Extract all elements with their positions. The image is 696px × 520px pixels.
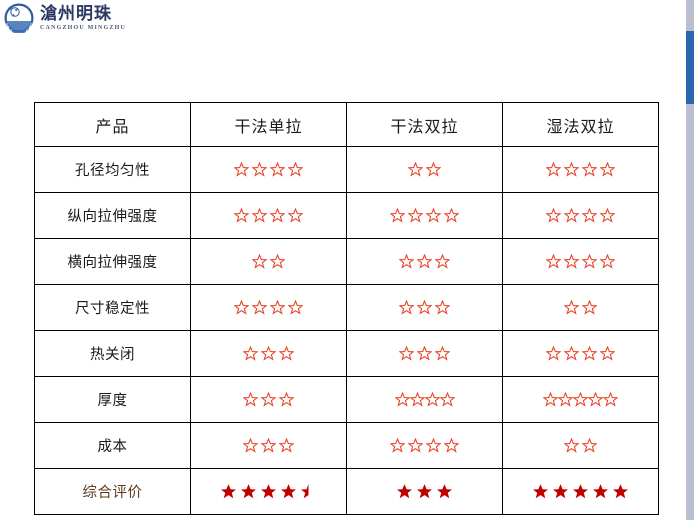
vertical-scrollbar[interactable]	[684, 0, 696, 520]
star-outline-icon	[261, 438, 276, 453]
star-outline-icon	[564, 438, 579, 453]
star-filled-icon	[436, 483, 453, 500]
rating-cell-r7-c1	[347, 469, 503, 515]
star-rating	[234, 208, 303, 223]
slide-canvas: 滄州明珠 CANGZHOU MINGZHU 不同工艺优缺点对比 产品 干法单拉 …	[0, 0, 684, 520]
star-outline-icon	[426, 162, 441, 177]
star-outline-icon	[546, 254, 561, 269]
star-rating	[390, 208, 459, 223]
rating-cell-r2-c1	[347, 239, 503, 285]
star-outline-icon	[600, 208, 615, 223]
star-outline-icon	[582, 300, 597, 315]
star-outline-icon	[288, 162, 303, 177]
row-label-5: 厚度	[35, 377, 191, 423]
table-row: 成本	[35, 423, 659, 469]
star-filled-icon	[396, 483, 413, 500]
table-row: 综合评价	[35, 469, 659, 515]
star-outline-icon	[546, 208, 561, 223]
star-outline-icon	[410, 392, 425, 407]
star-outline-icon	[270, 300, 285, 315]
star-outline-icon	[399, 300, 414, 315]
star-outline-icon	[588, 392, 603, 407]
column-header-dry-biaxial: 干法双拉	[347, 103, 503, 147]
star-outline-icon	[546, 162, 561, 177]
star-half-icon	[300, 483, 317, 500]
star-outline-icon	[425, 392, 440, 407]
star-rating	[546, 346, 615, 361]
star-outline-icon	[279, 438, 294, 453]
star-outline-icon	[399, 346, 414, 361]
star-outline-icon	[546, 346, 561, 361]
star-rating	[243, 346, 294, 361]
star-outline-icon	[435, 346, 450, 361]
star-outline-icon	[444, 438, 459, 453]
star-outline-icon	[252, 300, 267, 315]
star-outline-icon	[288, 208, 303, 223]
star-outline-icon	[234, 162, 249, 177]
star-rating	[408, 162, 441, 177]
logo-name-cn: 滄州明珠	[40, 6, 126, 23]
star-outline-icon	[426, 208, 441, 223]
row-label-0: 孔径均匀性	[35, 147, 191, 193]
star-outline-icon	[558, 392, 573, 407]
star-outline-icon	[435, 254, 450, 269]
star-outline-icon	[390, 438, 405, 453]
star-outline-icon	[543, 392, 558, 407]
column-header-product: 产品	[35, 103, 191, 147]
star-outline-icon	[582, 162, 597, 177]
star-outline-icon	[582, 346, 597, 361]
star-outline-icon	[270, 208, 285, 223]
star-rating	[546, 254, 615, 269]
rating-cell-r5-c1	[347, 377, 503, 423]
rating-cell-r0-c1	[347, 147, 503, 193]
star-rating	[220, 483, 317, 500]
star-outline-icon	[417, 254, 432, 269]
logo-name-en: CANGZHOU MINGZHU	[40, 25, 126, 31]
star-rating	[543, 392, 618, 407]
star-outline-icon	[600, 254, 615, 269]
star-outline-icon	[261, 392, 276, 407]
table-row: 热关闭	[35, 331, 659, 377]
star-rating	[399, 300, 450, 315]
rating-cell-r6-c0	[191, 423, 347, 469]
star-outline-icon	[270, 254, 285, 269]
comparison-table: 产品 干法单拉 干法双拉 湿法双拉 孔径均匀性纵向拉伸强度横向拉伸强度尺寸稳定性…	[34, 102, 659, 515]
row-label-2: 横向拉伸强度	[35, 239, 191, 285]
star-outline-icon	[243, 438, 258, 453]
star-outline-icon	[234, 300, 249, 315]
star-outline-icon	[279, 346, 294, 361]
star-outline-icon	[399, 254, 414, 269]
star-outline-icon	[582, 438, 597, 453]
star-rating	[252, 254, 285, 269]
circular-pearl-emblem-icon	[4, 3, 34, 33]
rating-cell-r2-c2	[503, 239, 659, 285]
rating-cell-r4-c0	[191, 331, 347, 377]
star-outline-icon	[603, 392, 618, 407]
table-row: 厚度	[35, 377, 659, 423]
star-filled-icon	[592, 483, 609, 500]
star-outline-icon	[243, 346, 258, 361]
star-outline-icon	[417, 346, 432, 361]
scrollbar-thumb[interactable]	[686, 31, 694, 104]
star-outline-icon	[234, 208, 249, 223]
star-rating	[243, 392, 294, 407]
rating-cell-r2-c0	[191, 239, 347, 285]
logo-wordmark: 滄州明珠 CANGZHOU MINGZHU	[40, 6, 126, 31]
star-rating	[243, 438, 294, 453]
star-outline-icon	[243, 392, 258, 407]
star-rating	[234, 162, 303, 177]
column-header-dry-uniaxial: 干法单拉	[191, 103, 347, 147]
rating-cell-r1-c2	[503, 193, 659, 239]
row-label-1: 纵向拉伸强度	[35, 193, 191, 239]
star-filled-icon	[572, 483, 589, 500]
star-rating	[532, 483, 629, 500]
logo-bar: 滄州明珠 CANGZHOU MINGZHU	[0, 0, 684, 37]
column-header-wet-biaxial: 湿法双拉	[503, 103, 659, 147]
star-outline-icon	[395, 392, 410, 407]
star-rating	[546, 208, 615, 223]
star-rating	[390, 438, 459, 453]
star-outline-icon	[435, 300, 450, 315]
row-label-3: 尺寸稳定性	[35, 285, 191, 331]
star-outline-icon	[426, 438, 441, 453]
star-outline-icon	[252, 162, 267, 177]
table-header: 产品 干法单拉 干法双拉 湿法双拉	[35, 103, 659, 147]
star-outline-icon	[440, 392, 455, 407]
rating-cell-r4-c2	[503, 331, 659, 377]
star-filled-icon	[532, 483, 549, 500]
star-filled-icon	[612, 483, 629, 500]
star-outline-icon	[417, 300, 432, 315]
star-outline-icon	[444, 208, 459, 223]
star-outline-icon	[582, 254, 597, 269]
rating-cell-r3-c1	[347, 285, 503, 331]
rating-cell-r0-c2	[503, 147, 659, 193]
star-outline-icon	[279, 392, 294, 407]
star-outline-icon	[600, 346, 615, 361]
row-label-6: 成本	[35, 423, 191, 469]
star-filled-icon	[240, 483, 257, 500]
star-filled-icon	[220, 483, 237, 500]
slide-title: 不同工艺优缺点对比	[225, 44, 459, 80]
star-rating	[399, 346, 450, 361]
rating-cell-r7-c0	[191, 469, 347, 515]
company-logo: 滄州明珠 CANGZHOU MINGZHU	[4, 1, 144, 35]
star-outline-icon	[600, 162, 615, 177]
star-filled-icon	[416, 483, 433, 500]
star-rating	[546, 162, 615, 177]
star-filled-icon	[280, 483, 297, 500]
rating-cell-r5-c2	[503, 377, 659, 423]
star-outline-icon	[564, 208, 579, 223]
row-label-7: 综合评价	[35, 469, 191, 515]
star-outline-icon	[582, 208, 597, 223]
star-outline-icon	[408, 438, 423, 453]
star-rating	[396, 483, 453, 500]
star-outline-icon	[408, 162, 423, 177]
rating-cell-r1-c0	[191, 193, 347, 239]
star-rating	[395, 392, 455, 407]
rating-cell-r3-c0	[191, 285, 347, 331]
rating-cell-r0-c0	[191, 147, 347, 193]
star-rating	[564, 300, 597, 315]
table-body: 孔径均匀性纵向拉伸强度横向拉伸强度尺寸稳定性热关闭厚度成本综合评价	[35, 147, 659, 515]
star-outline-icon	[270, 162, 285, 177]
star-outline-icon	[252, 208, 267, 223]
star-filled-icon	[552, 483, 569, 500]
rating-cell-r7-c2	[503, 469, 659, 515]
table-row: 孔径均匀性	[35, 147, 659, 193]
rating-cell-r6-c1	[347, 423, 503, 469]
star-outline-icon	[252, 254, 267, 269]
star-outline-icon	[261, 346, 276, 361]
rating-cell-r1-c1	[347, 193, 503, 239]
star-outline-icon	[573, 392, 588, 407]
star-outline-icon	[288, 300, 303, 315]
star-outline-icon	[564, 346, 579, 361]
star-outline-icon	[390, 208, 405, 223]
star-rating	[399, 254, 450, 269]
table-row: 纵向拉伸强度	[35, 193, 659, 239]
star-rating	[234, 300, 303, 315]
star-outline-icon	[564, 162, 579, 177]
row-label-4: 热关闭	[35, 331, 191, 377]
star-outline-icon	[564, 300, 579, 315]
rating-cell-r4-c1	[347, 331, 503, 377]
star-filled-icon	[260, 483, 277, 500]
rating-cell-r5-c0	[191, 377, 347, 423]
table-row: 横向拉伸强度	[35, 239, 659, 285]
star-outline-icon	[408, 208, 423, 223]
rating-cell-r6-c2	[503, 423, 659, 469]
table-row: 尺寸稳定性	[35, 285, 659, 331]
star-rating	[564, 438, 597, 453]
star-outline-icon	[564, 254, 579, 269]
table-header-row: 产品 干法单拉 干法双拉 湿法双拉	[35, 103, 659, 147]
comparison-table-container: 产品 干法单拉 干法双拉 湿法双拉 孔径均匀性纵向拉伸强度横向拉伸强度尺寸稳定性…	[34, 102, 658, 515]
rating-cell-r3-c2	[503, 285, 659, 331]
slide-title-banner: 不同工艺优缺点对比	[0, 37, 684, 87]
